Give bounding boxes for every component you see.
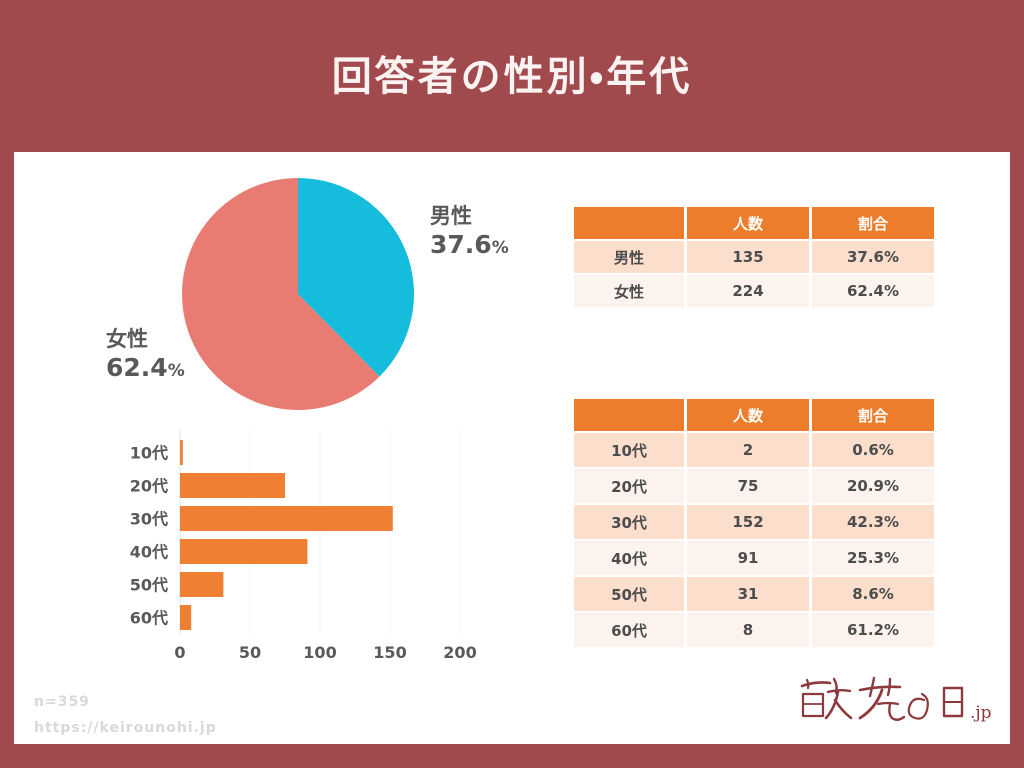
age-row-count: 8: [687, 613, 809, 647]
age-row-pct: 42.3%: [812, 505, 934, 539]
bar-category-label: 30代: [130, 510, 168, 529]
age-row-pct: 61.2%: [812, 613, 934, 647]
table-row: 50代 31 8.6%: [574, 577, 934, 611]
table-header-row: 人数 割合: [574, 399, 934, 431]
table-row: 10代 2 0.6%: [574, 433, 934, 467]
page-title: 回答者の性別・年代: [0, 44, 1024, 102]
x-tick-label: 200: [443, 643, 476, 662]
gender-header-pct: 割合: [812, 207, 934, 239]
age-row-pct: 0.6%: [812, 433, 934, 467]
age-row-label: 20代: [574, 469, 684, 503]
pie-label-male: 男性 37.6%: [430, 204, 509, 260]
bar-category-label: 10代: [130, 444, 168, 463]
slide-root: 回答者の性別・年代 男性 37.6% 女性 62.4% 10代20代30代40代…: [0, 0, 1024, 768]
table-row: 60代 8 61.2%: [574, 613, 934, 647]
age-row-pct: 25.3%: [812, 541, 934, 575]
table-row: 20代 75 20.9%: [574, 469, 934, 503]
age-row-count: 91: [687, 541, 809, 575]
gender-row-count: 135: [687, 241, 809, 273]
bar-10代: [180, 440, 183, 465]
sample-size-note: n=359: [34, 694, 90, 710]
table-row: 男性 135 37.6%: [574, 241, 934, 273]
table-header-row: 人数 割合: [574, 207, 934, 239]
gender-row-pct: 62.4%: [812, 275, 934, 307]
x-tick-label: 0: [174, 643, 185, 662]
pie-label-female-name: 女性: [106, 327, 185, 353]
age-row-label: 30代: [574, 505, 684, 539]
gender-row-label: 男性: [574, 241, 684, 273]
age-row-count: 152: [687, 505, 809, 539]
table-row: 女性 224 62.4%: [574, 275, 934, 307]
logo-tld: .jp: [970, 703, 992, 723]
pie-label-female: 女性 62.4%: [106, 327, 185, 383]
x-tick-label: 100: [303, 643, 336, 662]
bar-category-label: 60代: [130, 609, 168, 628]
age-row-label: 50代: [574, 577, 684, 611]
source-url: https://keirounohi.jp: [34, 720, 217, 736]
age-row-count: 31: [687, 577, 809, 611]
bar-40代: [180, 539, 307, 564]
age-row-label: 60代: [574, 613, 684, 647]
age-table: 人数 割合 10代 2 0.6% 20代 75 20.9% 30代 152: [571, 397, 937, 649]
bar-30代: [180, 506, 393, 531]
gender-header-count: 人数: [687, 207, 809, 239]
gender-pie-chart: [182, 178, 414, 410]
gender-header-label: [574, 207, 684, 239]
age-header-count: 人数: [687, 399, 809, 431]
x-tick-label: 50: [239, 643, 261, 662]
pie-label-female-value: 62.4%: [106, 353, 185, 384]
gender-row-pct: 37.6%: [812, 241, 934, 273]
age-header-pct: 割合: [812, 399, 934, 431]
x-tick-label: 150: [373, 643, 406, 662]
gender-row-count: 224: [687, 275, 809, 307]
table-row: 30代 152 42.3%: [574, 505, 934, 539]
bar-category-label: 50代: [130, 576, 168, 595]
age-header-label: [574, 399, 684, 431]
content-panel: 男性 37.6% 女性 62.4% 10代20代30代40代50代60代0501…: [14, 152, 1010, 744]
bar-category-label: 20代: [130, 477, 168, 496]
age-row-count: 75: [687, 469, 809, 503]
pie-label-male-value: 37.6%: [430, 230, 509, 261]
age-row-label: 40代: [574, 541, 684, 575]
keirounohi-logo: .jp: [794, 670, 1004, 732]
age-row-pct: 20.9%: [812, 469, 934, 503]
bar-category-label: 40代: [130, 543, 168, 562]
bar-50代: [180, 572, 223, 597]
pie-label-male-name: 男性: [430, 204, 509, 230]
table-row: 40代 91 25.3%: [574, 541, 934, 575]
gender-table: 人数 割合 男性 135 37.6% 女性 224 62.4%: [571, 205, 937, 309]
age-row-pct: 8.6%: [812, 577, 934, 611]
gender-row-label: 女性: [574, 275, 684, 307]
bar-60代: [180, 605, 191, 630]
age-row-label: 10代: [574, 433, 684, 467]
bar-20代: [180, 473, 285, 498]
age-row-count: 2: [687, 433, 809, 467]
age-bar-chart: 10代20代30代40代50代60代050100150200: [24, 428, 504, 688]
